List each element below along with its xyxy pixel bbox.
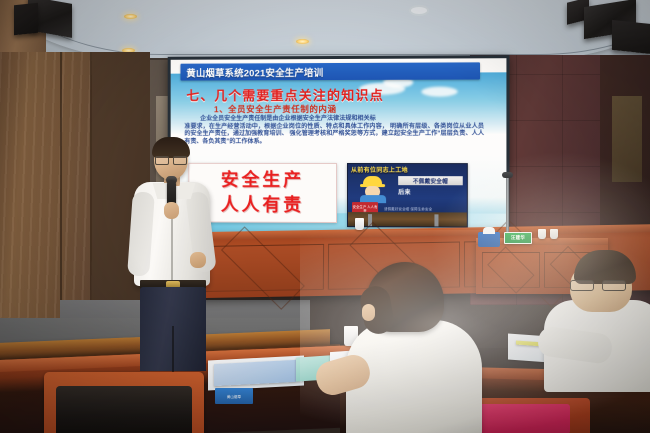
attendee-ear (362, 304, 375, 321)
ceiling-speaker-icon (612, 20, 650, 54)
slide-title-text: 黄山烟草系统2021安全生产培训 (180, 65, 323, 80)
slogan-line-1: 安全生产 (221, 168, 304, 193)
attendee-seated-right (548, 250, 650, 390)
cartoon-worker-icon (356, 176, 390, 202)
presenter-hand-right (190, 252, 206, 268)
empty-chair (44, 372, 204, 433)
presenter-hand-left (164, 202, 179, 219)
trouser-seam (172, 326, 174, 372)
downlight-icon (124, 14, 137, 19)
paper-cup (538, 229, 546, 239)
slide-surface: 黄山烟草系统2021安全生产培训 七、几个需要重点关注的知识点 1、全员安全生产… (171, 58, 507, 234)
paper-cup (355, 218, 364, 230)
ceiling-seam-line (0, 0, 650, 55)
poster-line-2: 后来 (398, 187, 411, 196)
downlight-icon (296, 39, 309, 44)
conference-room-photo: 黄山烟草系统2021安全生产培训 七、几个需要重点关注的知识点 1、全员安全生产… (0, 0, 650, 433)
poster-post-icon (434, 214, 438, 226)
chair-leather-pad (56, 386, 192, 433)
safety-poster-image: 从前有位同志上工地 不佩戴安全帽 后来 请佩戴好安全帽 保障生命安全 安全生产 … (347, 163, 468, 228)
attendee-seated-center (350, 262, 480, 433)
poster-headline: 从前有位同志上工地 (351, 165, 464, 174)
badge-text: 黄山烟草 (227, 394, 241, 399)
slide-heading: 七、几个需要重点关注的知识点 (186, 85, 486, 105)
wall-plaque (612, 96, 642, 182)
presenter-hair (152, 137, 190, 158)
slide-body-line: 强化管理考核和严格奖惩等方式，建立起安全生产工作“层层负责、人人 (289, 130, 484, 137)
ceiling-speaker-icon (14, 3, 38, 36)
blue-folder (214, 360, 296, 386)
slide-title-bar: 黄山烟草系统2021安全生产培训 (180, 62, 480, 80)
ring-light-icon (409, 5, 429, 16)
name-placard: 汪建华 (504, 232, 532, 244)
eyeglasses-icon (570, 280, 626, 289)
slogan-line-2: 人人有责 (221, 193, 304, 218)
poster-band-text: 不佩戴安全帽 (398, 176, 463, 185)
tissue-box (478, 232, 500, 247)
eyeglasses-icon (155, 156, 187, 163)
slide-body-text: 企业全员安全生产责任制是由企业根据安全生产法律法规和相关标 准要求，在生产经营活… (184, 115, 484, 146)
paper-cup (550, 229, 558, 239)
attendee-hair (574, 250, 636, 284)
microphone-stand (506, 176, 509, 240)
table-panel-diamond (487, 246, 534, 293)
poster-ground (348, 212, 467, 227)
id-badge: 黄山烟草 (215, 388, 253, 404)
microphone-icon (502, 172, 513, 178)
presenter (128, 140, 220, 370)
poster-footnote: 请佩戴好安全帽 保障生命安全 (384, 206, 432, 211)
placard-text: 汪建华 (511, 235, 525, 241)
table-panel (482, 252, 540, 288)
slide-body-line: 准要求，在生产经营活动中，根据企业岗位的性质、特点和具体工作内容， (184, 123, 388, 130)
slide-subheading: 1、全员安全生产责任制的内涵 (214, 103, 474, 116)
